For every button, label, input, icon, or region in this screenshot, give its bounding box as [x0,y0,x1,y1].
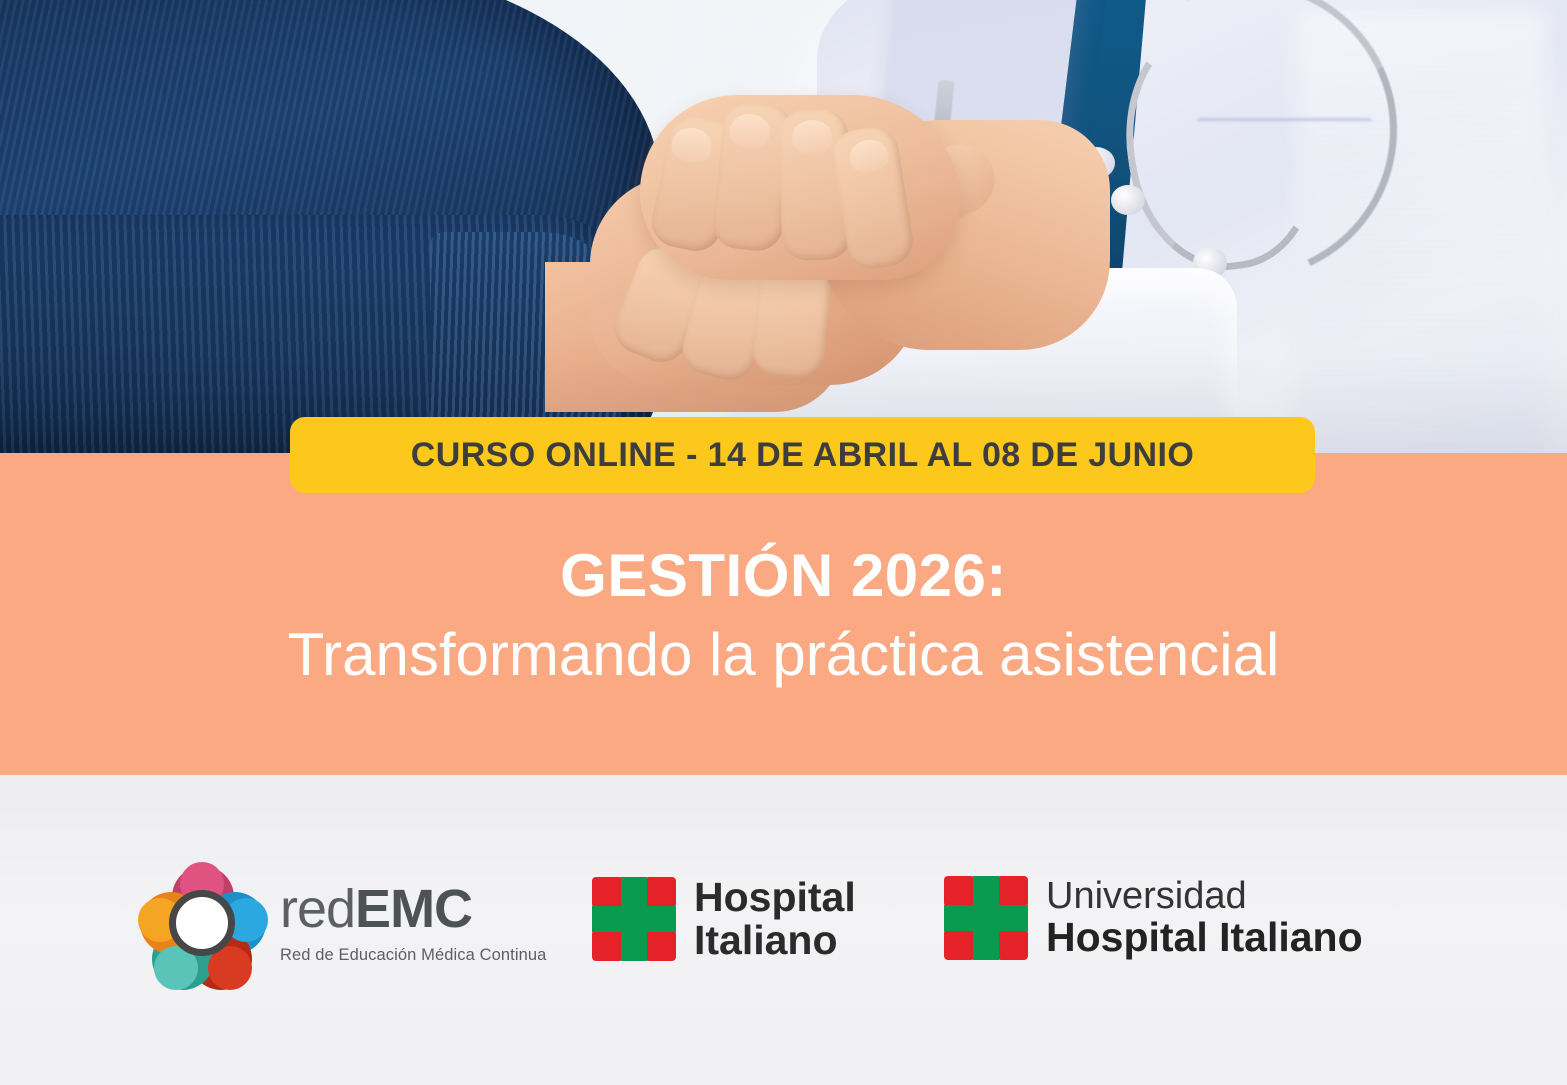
logo-redemc: redEMC Red de Educación Médica Continua [138,862,546,984]
course-title-block: GESTIÓN 2026: Transformando la práctica … [0,545,1567,691]
course-date-badge: CURSO ONLINE - 14 DE ABRIL AL 08 DE JUNI… [290,417,1315,493]
universidad-line1: Universidad [1046,876,1363,916]
uni-cross-square-bottom-right [997,929,1028,960]
photo-vignette [0,0,1567,453]
cross-horizontal-bar [592,906,676,932]
cross-square-top-right [645,877,676,908]
hospital-cross-icon [592,877,676,961]
course-date-badge-label: CURSO ONLINE - 14 DE ABRIL AL 08 DE JUNI… [411,436,1194,475]
redemc-mark-icon [138,862,266,984]
universidad-wordmark: Universidad Hospital Italiano [1046,876,1363,960]
hero-photo [0,0,1567,453]
universidad-cross-icon [944,876,1028,960]
cross-square-bottom-right [645,930,676,961]
hospital-italiano-line2: Italiano [694,919,856,962]
cross-square-top-left [592,877,623,908]
universidad-line2: Hospital Italiano [1046,916,1363,959]
redemc-tagline: Red de Educación Médica Continua [280,946,546,965]
course-promo-banner: CURSO ONLINE - 14 DE ABRIL AL 08 DE JUNI… [0,0,1567,1085]
logo-universidad-hospital-italiano: Universidad Hospital Italiano [944,876,1363,960]
hospital-italiano-wordmark: Hospital Italiano [694,876,856,961]
redemc-name-bold: EMC [355,879,472,939]
logo-hospital-italiano: Hospital Italiano [592,876,856,961]
uni-cross-square-top-right [997,876,1028,907]
redemc-name-light: red [280,879,355,939]
uni-cross-horizontal-bar [944,905,1028,931]
uni-cross-square-bottom-left [944,929,975,960]
cross-square-bottom-left [592,930,623,961]
course-title-secondary: Transformando la práctica asistencial [0,620,1567,691]
hospital-italiano-line1: Hospital [694,876,856,919]
redemc-wordmark: redEMC Red de Educación Médica Continua [280,882,546,965]
uni-cross-square-top-left [944,876,975,907]
redemc-center-ring [169,890,235,956]
course-title-primary: GESTIÓN 2026: [0,545,1567,606]
redemc-name: redEMC [280,882,546,936]
